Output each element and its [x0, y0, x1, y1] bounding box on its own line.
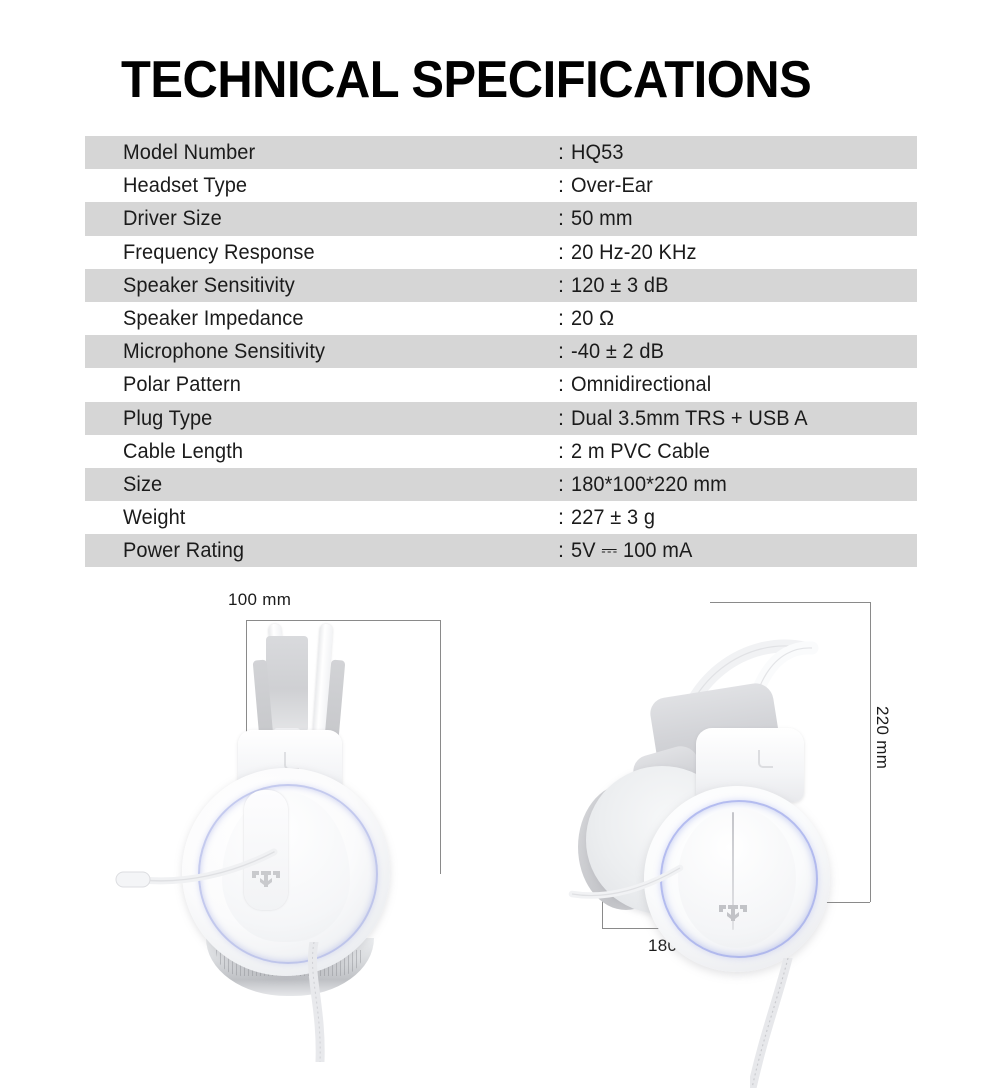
spec-label: Frequency Response — [123, 240, 315, 265]
spec-separator: : — [558, 140, 564, 165]
spec-separator: : — [558, 538, 564, 563]
microphone-boom — [568, 860, 694, 908]
spec-label: Microphone Sensitivity — [123, 339, 325, 364]
spec-separator: : — [558, 306, 564, 331]
spec-label: Power Rating — [123, 538, 244, 563]
brand-logo-icon — [718, 902, 748, 924]
headset-cable — [750, 958, 820, 1088]
table-row: Weight : 227 ± 3 g — [85, 501, 917, 534]
spec-value: -40 ± 2 dB — [571, 339, 664, 364]
spec-value: 2 m PVC Cable — [571, 439, 710, 464]
table-row: Polar Pattern : Omnidirectional — [85, 368, 917, 401]
spec-separator: : — [558, 273, 564, 298]
spec-separator: : — [558, 439, 564, 464]
dimension-line-horizontal — [246, 620, 440, 621]
spec-label: Headset Type — [123, 173, 247, 198]
headset-three-quarter-view-figure: 220 mm 180 mm — [580, 598, 920, 968]
table-row: Headset Type : Over-Ear — [85, 169, 917, 202]
spec-value: 5V ⎓ 100 mA — [571, 538, 692, 563]
spec-separator: : — [558, 206, 564, 231]
table-row: Size : 180*100*220 mm — [85, 468, 917, 501]
spec-value: Over-Ear — [571, 173, 653, 198]
spec-value: 20 Ω — [571, 306, 614, 331]
spec-separator: : — [558, 240, 564, 265]
spec-label: Speaker Impedance — [123, 306, 304, 331]
spec-separator: : — [558, 505, 564, 530]
table-row: Plug Type : Dual 3.5mm TRS + USB A — [85, 402, 917, 435]
headset-cable — [296, 942, 344, 1062]
table-row: Speaker Impedance : 20 Ω — [85, 302, 917, 335]
earcup-plate — [678, 808, 796, 948]
dimension-line-vertical-right — [440, 620, 441, 874]
spec-separator: : — [558, 472, 564, 497]
table-row: Frequency Response : 20 Hz-20 KHz — [85, 236, 917, 269]
spec-label: Driver Size — [123, 206, 222, 231]
spec-separator: : — [558, 406, 564, 431]
spec-label: Weight — [123, 505, 185, 530]
spec-value: Dual 3.5mm TRS + USB A — [571, 406, 808, 431]
table-row: Microphone Sensitivity : -40 ± 2 dB — [85, 335, 917, 368]
table-row: Cable Length : 2 m PVC Cable — [85, 435, 917, 468]
dimension-label-width-100mm: 100 mm — [228, 590, 291, 610]
spec-label: Size — [123, 472, 162, 497]
table-row: Speaker Sensitivity : 120 ± 3 dB — [85, 269, 917, 302]
specifications-table: Model Number : HQ53 Headset Type : Over-… — [85, 136, 917, 567]
spec-label: Speaker Sensitivity — [123, 273, 295, 298]
spec-value: Omnidirectional — [571, 372, 711, 397]
spec-label: Model Number — [123, 140, 255, 165]
spec-value: 180*100*220 mm — [571, 472, 727, 497]
headset-side-view-figure: 100 mm — [120, 590, 460, 950]
headband-strap — [266, 636, 308, 732]
dimension-line-vertical-right — [870, 602, 871, 902]
spec-value: 120 ± 3 dB — [571, 273, 669, 298]
spec-value: 20 Hz-20 KHz — [571, 240, 697, 265]
page-title: TECHNICAL SPECIFICATIONS — [121, 50, 811, 110]
table-row: Model Number : HQ53 — [85, 136, 917, 169]
table-row: Power Rating : 5V ⎓ 100 mA — [85, 534, 917, 567]
left-side-marker-icon — [758, 750, 773, 768]
spec-label: Cable Length — [123, 439, 243, 464]
dimension-label-height-220mm: 220 mm — [872, 706, 892, 769]
table-row: Driver Size : 50 mm — [85, 202, 917, 235]
microphone-boom — [114, 840, 304, 902]
spec-label: Polar Pattern — [123, 372, 241, 397]
dimension-line-top — [710, 602, 870, 603]
spec-value: 50 mm — [571, 206, 633, 231]
spec-separator: : — [558, 339, 564, 364]
spec-separator: : — [558, 173, 564, 198]
spec-value: HQ53 — [571, 140, 624, 165]
spec-value: 227 ± 3 g — [571, 505, 655, 530]
spec-separator: : — [558, 372, 564, 397]
spec-sheet-page: TECHNICAL SPECIFICATIONS Model Number : … — [0, 0, 1000, 1000]
spec-label: Plug Type — [123, 406, 212, 431]
